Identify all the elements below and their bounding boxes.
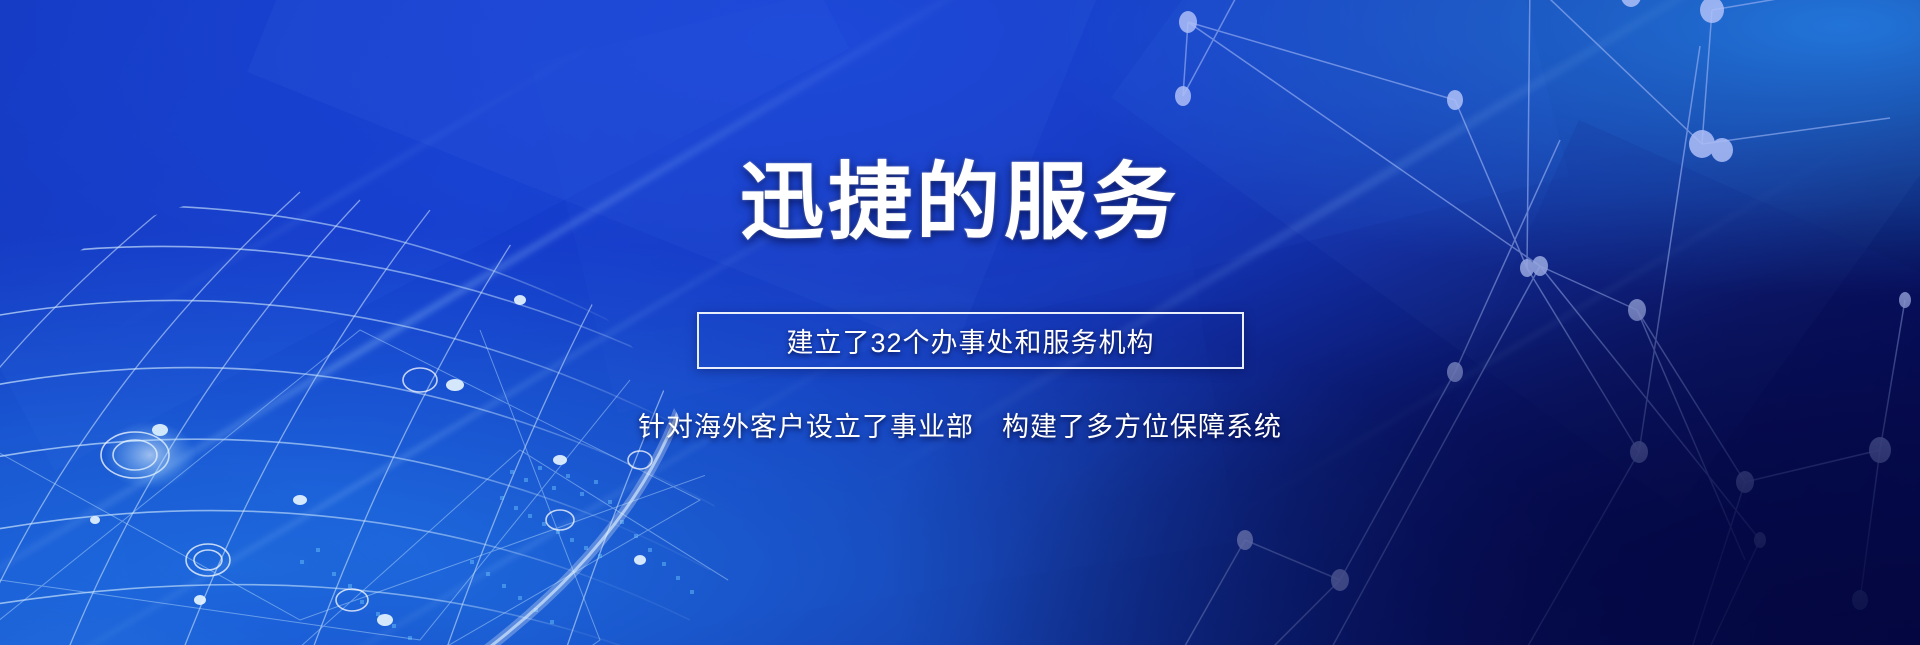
banner-content: 迅捷的服务 建立了32个办事处和服务机构 针对海外客户设立了事业部 构建了多方位… — [0, 0, 1920, 645]
service-hero-banner: 迅捷的服务 建立了32个办事处和服务机构 针对海外客户设立了事业部 构建了多方位… — [0, 0, 1920, 645]
highlight-statement-box: 建立了32个办事处和服务机构 — [697, 312, 1244, 369]
highlight-statement-text: 建立了32个办事处和服务机构 — [786, 321, 1154, 360]
page-title: 迅捷的服务 — [0, 160, 1920, 244]
tagline-text: 针对海外客户设立了事业部 构建了多方位保障系统 — [0, 405, 1920, 444]
